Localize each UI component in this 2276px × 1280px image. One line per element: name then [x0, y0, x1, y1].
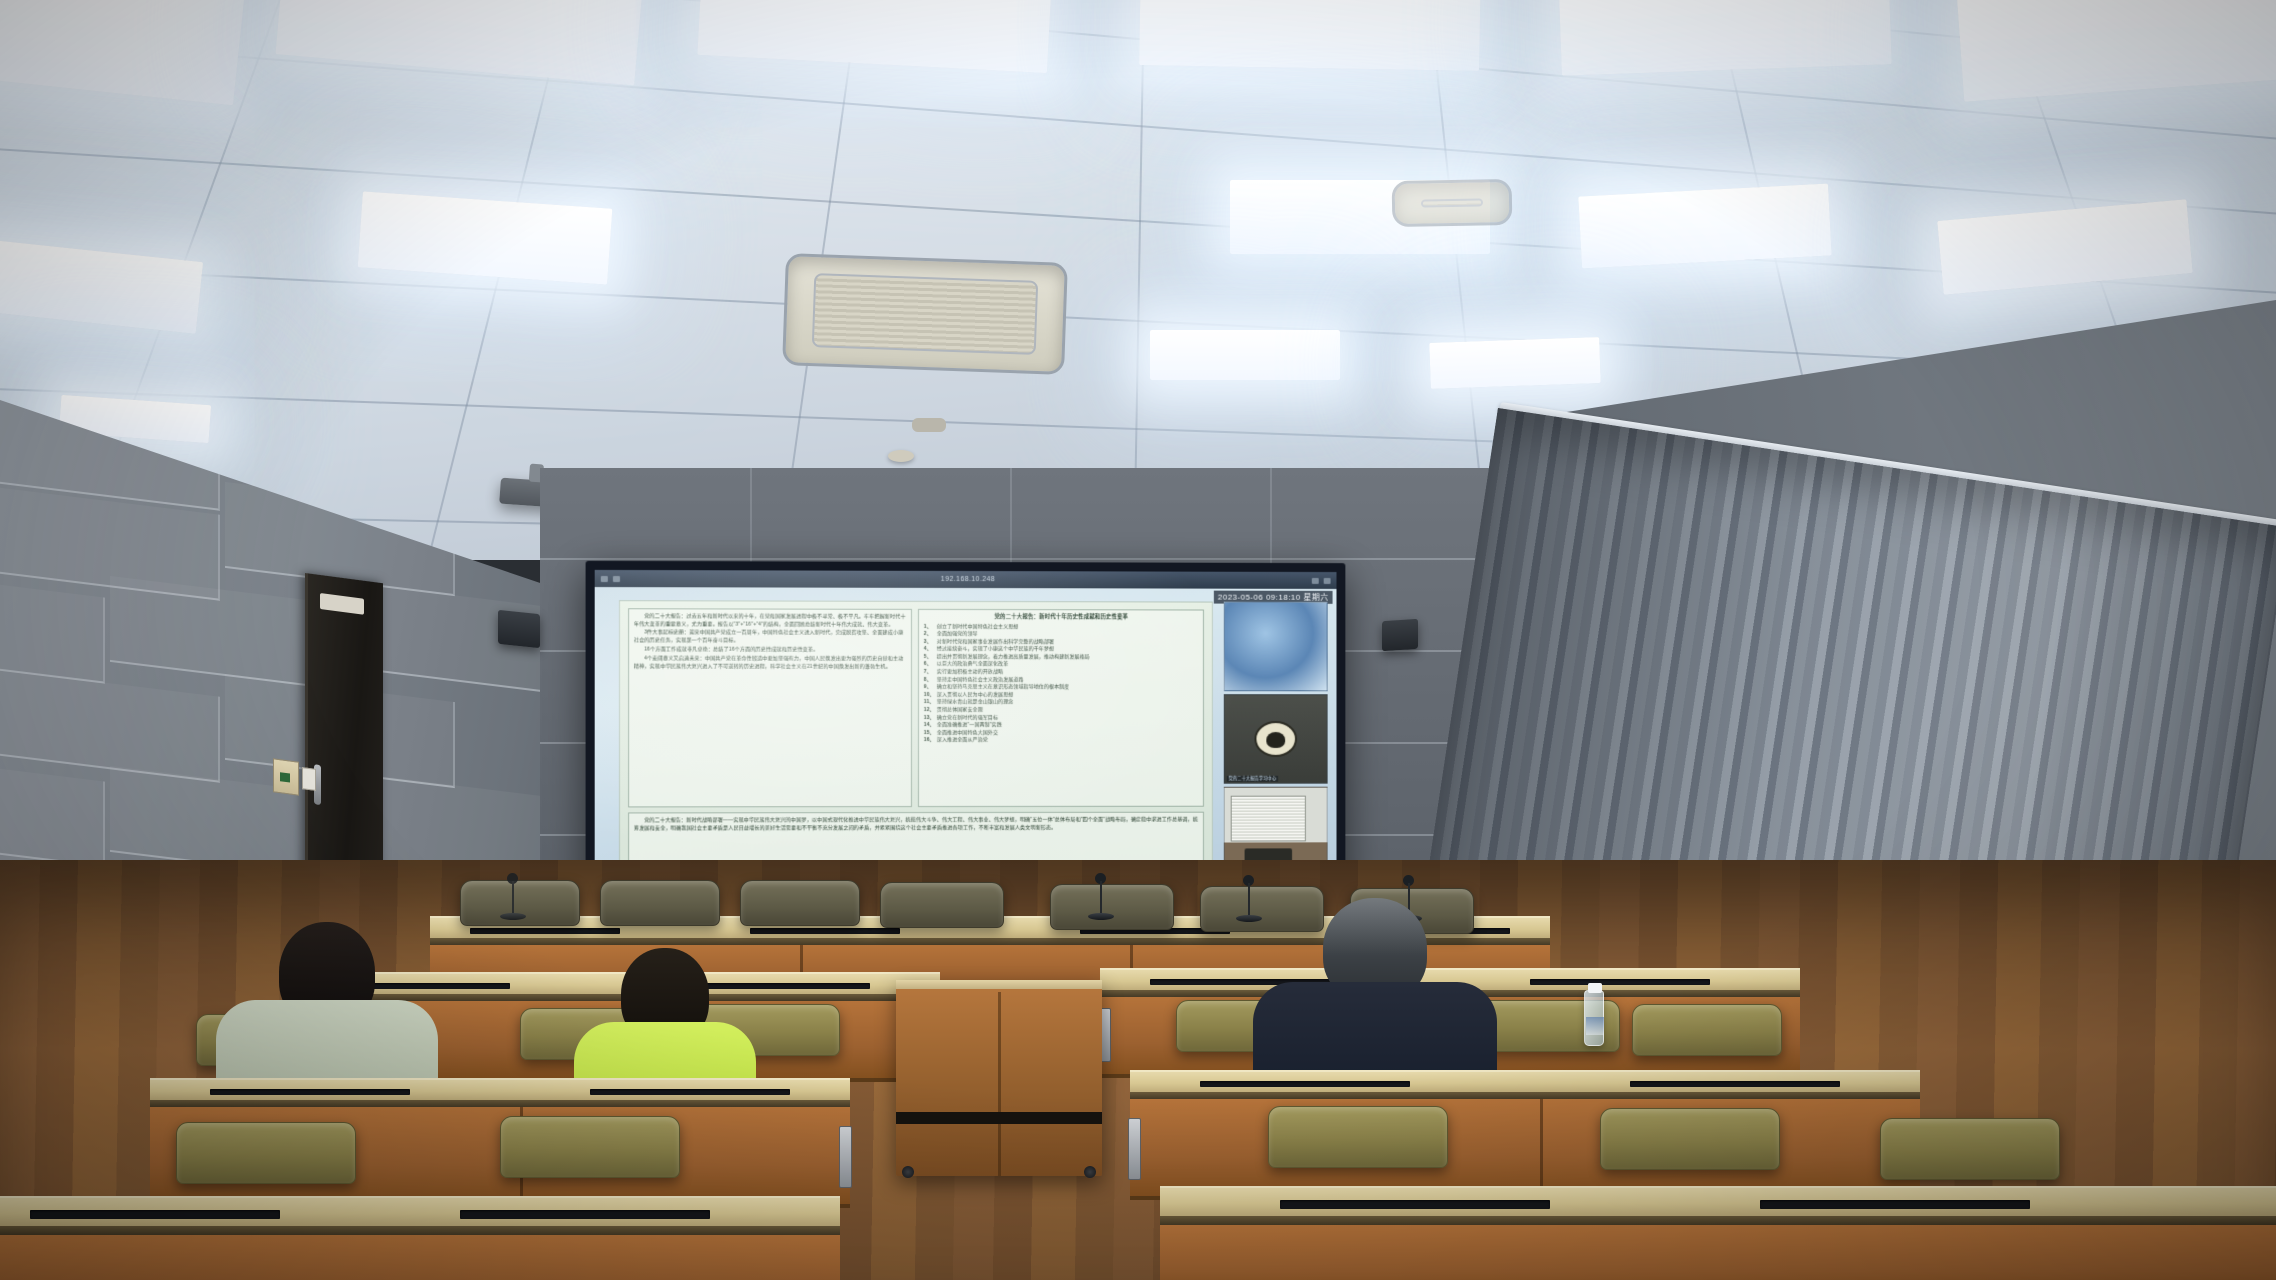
- podium-chair[interactable]: [600, 880, 720, 926]
- window-controls-left[interactable]: [601, 575, 620, 581]
- wall-speaker-left: [498, 610, 540, 648]
- list-item: 深入推进全面从严治党: [924, 737, 1199, 745]
- desk-row-4-right: [1160, 1186, 2276, 1280]
- ceiling-speaker: [912, 418, 946, 432]
- lectern-caster: [902, 1166, 914, 1178]
- podium-chair[interactable]: [880, 882, 1004, 928]
- slide-paragraph: 党的二十大报告：过去五年和新时代以来的十年，在党和国家发展进程中极不寻常、极不平…: [634, 613, 906, 629]
- wall-speaker-right: [1382, 619, 1418, 652]
- ceiling-light-panel: [1558, 0, 1891, 76]
- list-item: 贯彻总体国家安全观: [924, 707, 1199, 715]
- wall-control-panel[interactable]: [273, 758, 299, 795]
- slide-achievement-list: 创立了新时代中国特色社会主义思想 全面加强党的领导 对新时代党和国家事业发展作出…: [924, 623, 1199, 745]
- camera-feed-emblem[interactable]: 党的二十大报告学习中心: [1224, 694, 1328, 784]
- projection-screen-frame: 192.168.10.248 2023-05-06 09:18:10 星期六 党…: [586, 561, 1346, 911]
- desk-row-3-right: [1130, 1070, 1920, 1200]
- presentation-slide: 党的二十大报告：过去五年和新时代以来的十年，在党和国家发展进程中极不寻常、极不平…: [619, 600, 1213, 879]
- audience-chair[interactable]: [176, 1122, 356, 1184]
- gooseneck-microphone[interactable]: [500, 874, 528, 920]
- water-bottle[interactable]: [1584, 990, 1604, 1046]
- door-sign: [320, 593, 364, 615]
- audience-chair[interactable]: [1880, 1118, 2060, 1180]
- slide-right-column: 党的二十大报告：新时代十年历史性成就和历史性变革 创立了新时代中国特色社会主义思…: [918, 609, 1204, 808]
- lectern-caster: [1084, 1166, 1096, 1178]
- projection-screen[interactable]: 192.168.10.248 2023-05-06 09:18:10 星期六 党…: [595, 570, 1337, 902]
- slide-column-heading: 党的二十大报告：新时代十年历史性成就和历史性变革: [924, 614, 1199, 622]
- mobile-lectern[interactable]: [896, 980, 1102, 1176]
- window-ip-label: 192.168.10.248: [941, 576, 995, 583]
- video-label: 党的二十大报告学习中心: [1227, 776, 1279, 782]
- desk-row-4-left: [0, 1196, 840, 1280]
- camera-feed-top[interactable]: [1224, 601, 1328, 691]
- audience-chair[interactable]: [1268, 1106, 1448, 1168]
- emblem-icon: [1254, 721, 1297, 757]
- slide-paragraph: 3件大事起标史册：迎来中国共产党成立一百周年，中国特色社会主义进入新时代，完成脱…: [634, 630, 906, 646]
- conference-room-photo: 192.168.10.248 2023-05-06 09:18:10 星期六 党…: [0, 0, 2276, 1280]
- audience-chair[interactable]: [1600, 1108, 1780, 1170]
- window-controls-right[interactable]: [1312, 577, 1331, 583]
- light-switch[interactable]: [302, 767, 316, 791]
- audience-chair[interactable]: [1632, 1004, 1782, 1056]
- audience-chair[interactable]: [500, 1116, 680, 1178]
- ceiling-light-panel: [1150, 330, 1340, 380]
- list-item: 全面准确推进"一国两制"实践: [924, 722, 1199, 730]
- ceiling-light-panel: [1578, 184, 1831, 269]
- video-thumbnail-column: 党的二十大报告学习中心 党的二十大报告学习中心: [1224, 601, 1328, 877]
- window-title-bar[interactable]: 192.168.10.248: [595, 570, 1337, 589]
- ac-cassette-unit: [1392, 179, 1513, 227]
- ceiling-light-panel: [1429, 337, 1601, 389]
- ac-cassette-unit: [782, 253, 1068, 375]
- smoke-detector-icon: [888, 450, 914, 462]
- ceiling-light-panel: [1139, 0, 1481, 71]
- gooseneck-microphone[interactable]: [1088, 868, 1116, 920]
- slide-paragraph: 4个宏阔意义又启迪未来：中国共产党在革命性锻造中更加坚强有力，中国人民焕发出更为…: [634, 656, 906, 672]
- slide-left-column: 党的二十大报告：过去五年和新时代以来的十年，在党和国家发展进程中极不寻常、极不平…: [628, 608, 912, 808]
- slide-paragraph: 16个方面工作成就非凡卓绝：总结了16个方面的历史性成就和历史性变革。: [634, 647, 906, 655]
- podium-chair[interactable]: [740, 880, 860, 926]
- slide-paragraph: 党的二十大报告：新时代战略部署——实现中华民族伟大复兴的中国梦，以中国式现代化推…: [634, 817, 1198, 834]
